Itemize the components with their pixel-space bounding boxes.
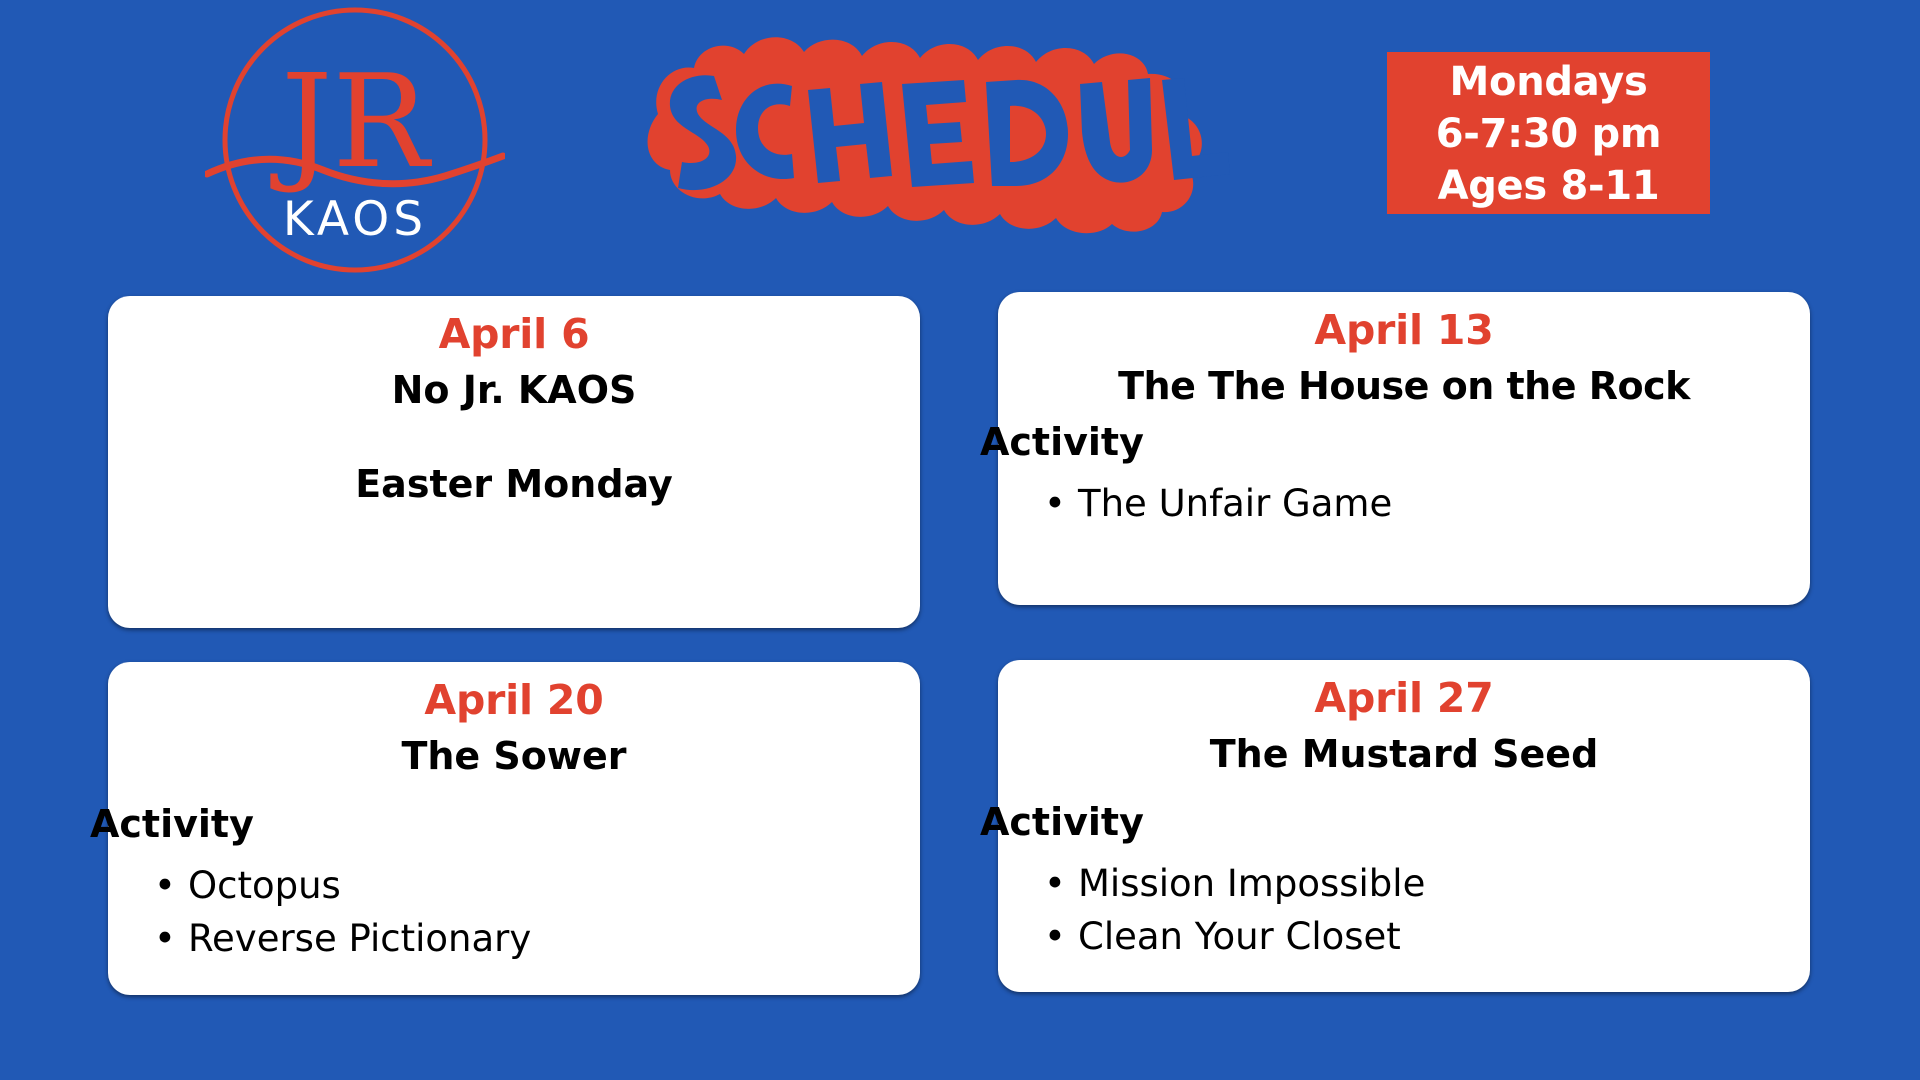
card-date: April 27 (998, 674, 1810, 722)
activity-list: •Mission Impossible •Clean Your Closet (1030, 858, 1425, 964)
card-date: April 6 (108, 310, 920, 358)
schedule-card: April 27 The Mustard Seed Activity •Miss… (998, 660, 1810, 992)
bullet-icon: • (154, 860, 176, 913)
schedule-card-grid: April 6 No Jr. KAOS Easter Monday April … (0, 0, 1920, 1080)
list-item: •Reverse Pictionary (140, 913, 531, 966)
card-note: Easter Monday (108, 460, 920, 509)
activity-text: Reverse Pictionary (188, 917, 531, 960)
bullet-icon: • (154, 913, 176, 966)
activity-text: Mission Impossible (1078, 862, 1425, 905)
card-topic: No Jr. KAOS (108, 366, 920, 415)
activity-list: •The Unfair Game (1030, 478, 1392, 531)
list-item: •Octopus (140, 860, 531, 913)
bullet-icon: • (1044, 478, 1066, 531)
activity-list: •Octopus •Reverse Pictionary (140, 860, 531, 966)
bullet-icon: • (1044, 858, 1066, 911)
card-topic: The Sower (108, 732, 920, 781)
activity-label: Activity (980, 800, 1144, 846)
card-date: April 20 (108, 676, 920, 724)
list-item: •The Unfair Game (1030, 478, 1392, 531)
card-topic: The The House on the Rock (998, 362, 1810, 411)
list-item: •Mission Impossible (1030, 858, 1425, 911)
activity-text: The Unfair Game (1078, 482, 1392, 525)
activity-label: Activity (980, 420, 1144, 466)
activity-text: Octopus (188, 864, 341, 907)
card-topic: The Mustard Seed (998, 730, 1810, 779)
schedule-card: April 6 No Jr. KAOS Easter Monday (108, 296, 920, 628)
schedule-card: April 20 The Sower Activity •Octopus •Re… (108, 662, 920, 995)
schedule-card: April 13 The The House on the Rock Activ… (998, 292, 1810, 605)
card-spacer (108, 416, 920, 460)
bullet-icon: • (1044, 911, 1066, 964)
activity-text: Clean Your Closet (1078, 915, 1401, 958)
list-item: •Clean Your Closet (1030, 911, 1425, 964)
card-date: April 13 (998, 306, 1810, 354)
activity-label: Activity (90, 802, 254, 848)
